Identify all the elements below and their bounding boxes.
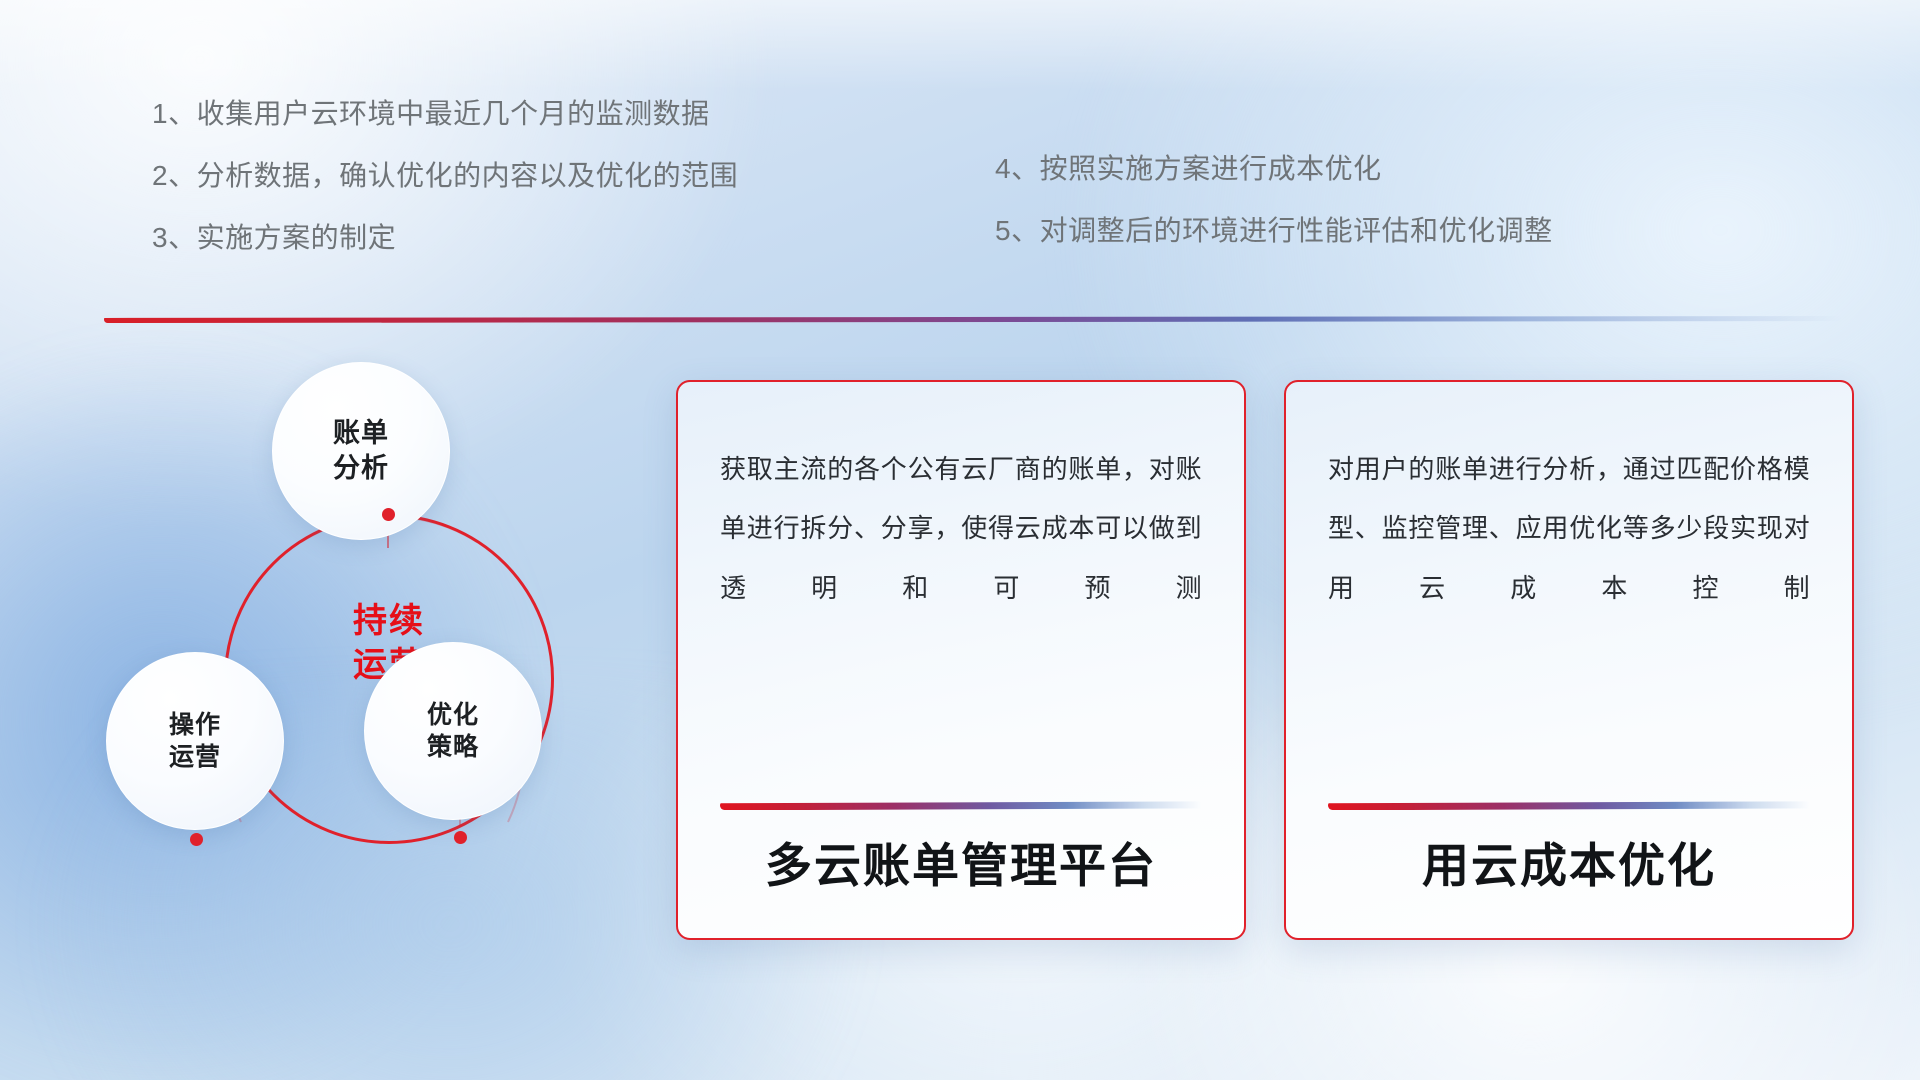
bubble-operation-running-line-1: 操作 bbox=[169, 709, 221, 742]
bubble-operation-running-line-2: 运营 bbox=[169, 741, 221, 774]
card-1-title: 多云账单管理平台 bbox=[720, 810, 1202, 938]
steps-right-column: 4、按照实施方案进行成本优化 5、对调整后的环境进行性能评估和优化调整 bbox=[995, 155, 1553, 245]
card-multi-cloud-bill-platform[interactable]: 获取主流的各个公有云厂商的账单，对账单进行拆分、分享，使得云成本可以做到透明和可… bbox=[676, 380, 1246, 940]
diagram-node-dot-top bbox=[382, 508, 395, 521]
bubble-optimize-strategy-line-2: 策略 bbox=[427, 731, 479, 764]
steps-left-column: 1、收集用户云环境中最近几个月的监测数据 2、分析数据，确认优化的内容以及优化的… bbox=[152, 100, 738, 252]
diagram-node-dot-bottom-right bbox=[454, 831, 467, 844]
step-item-5: 5、对调整后的环境进行性能评估和优化调整 bbox=[995, 217, 1553, 245]
diagram-node-dot-bottom-left bbox=[190, 833, 203, 846]
card-2-divider bbox=[1328, 801, 1810, 810]
diagram-bubble-operation-running[interactable]: 操作 运营 bbox=[106, 652, 284, 830]
diagram-bubble-bill-analysis[interactable]: 账单 分析 bbox=[272, 362, 450, 540]
background-top-sheen bbox=[0, 0, 1920, 90]
step-item-3: 3、实施方案的制定 bbox=[152, 224, 738, 252]
step-item-2: 2、分析数据，确认优化的内容以及优化的范围 bbox=[152, 162, 738, 190]
step-item-1: 1、收集用户云环境中最近几个月的监测数据 bbox=[152, 100, 738, 128]
bubble-optimize-strategy-line-1: 优化 bbox=[427, 699, 479, 732]
slide-canvas: 1、收集用户云环境中最近几个月的监测数据 2、分析数据，确认优化的内容以及优化的… bbox=[0, 0, 1920, 1080]
bubble-bill-analysis-line-1: 账单 bbox=[333, 416, 389, 451]
diagram-bubble-optimize-strategy[interactable]: 优化 策略 bbox=[364, 642, 542, 820]
center-label-line-1: 持续 bbox=[353, 600, 425, 644]
card-cloud-cost-optimization[interactable]: 对用户的账单进行分析，通过匹配价格模型、监控管理、应用优化等多少段实现对用云成本… bbox=[1284, 380, 1854, 940]
bubble-bill-analysis-line-2: 分析 bbox=[333, 451, 389, 486]
card-1-body-text: 获取主流的各个公有云厂商的账单，对账单进行拆分、分享，使得云成本可以做到透明和可… bbox=[720, 440, 1202, 618]
card-1-divider bbox=[720, 801, 1202, 810]
continuous-operation-diagram: 持续 运营 账单 分析 操作 运营 优化 策略 bbox=[96, 352, 656, 952]
step-item-4: 4、按照实施方案进行成本优化 bbox=[995, 155, 1553, 183]
card-2-body-text: 对用户的账单进行分析，通过匹配价格模型、监控管理、应用优化等多少段实现对用云成本… bbox=[1328, 440, 1810, 618]
card-2-title: 用云成本优化 bbox=[1328, 810, 1810, 938]
